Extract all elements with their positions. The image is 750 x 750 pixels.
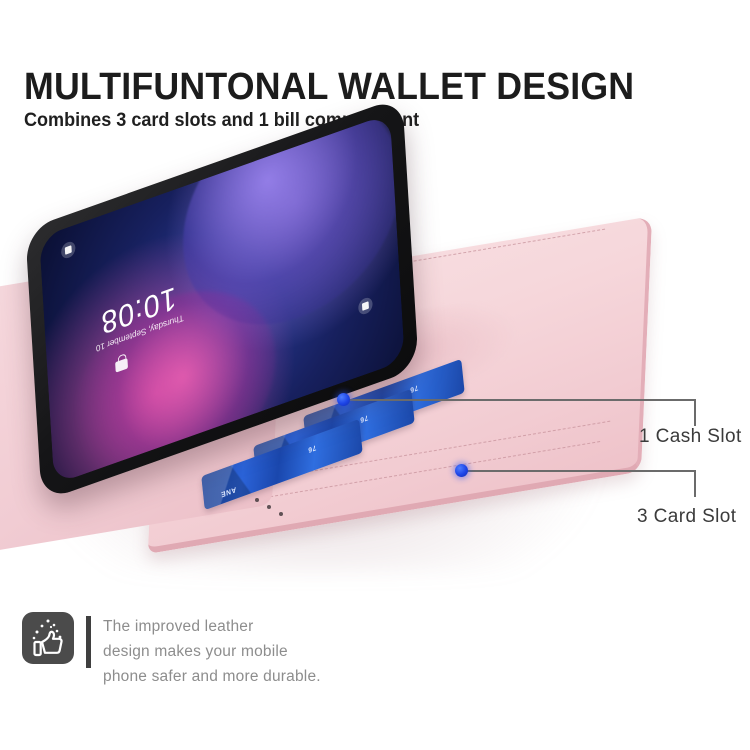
product-marketing-image: MULTIFUNTONAL WALLET DESIGN Combines 3 c… — [0, 0, 750, 750]
camera-icon — [61, 240, 76, 261]
flashlight-icon — [358, 296, 373, 317]
feature-accent-bar — [86, 616, 91, 668]
snap-dot — [267, 505, 271, 509]
snap-dot — [279, 512, 283, 516]
snap-dot — [255, 498, 259, 502]
feature-line-3: phone safer and more durable. — [103, 664, 423, 689]
card-label: ANE — [220, 485, 236, 498]
callout-label-card-slot: 3 Card Slot — [637, 506, 736, 528]
feature-line-1: The improved leather — [103, 614, 423, 639]
card-number: 76 — [307, 443, 316, 453]
feature-description: The improved leather design makes your m… — [103, 614, 423, 689]
page-title: MULTIFUNTONAL WALLET DESIGN — [24, 66, 634, 109]
feature-line-2: design makes your mobile — [103, 639, 423, 664]
callout-label-cash-slot: 1 Cash Slot — [639, 426, 742, 448]
thumbs-up-sparkle-icon — [22, 612, 74, 664]
card-number: 76 — [359, 413, 368, 423]
